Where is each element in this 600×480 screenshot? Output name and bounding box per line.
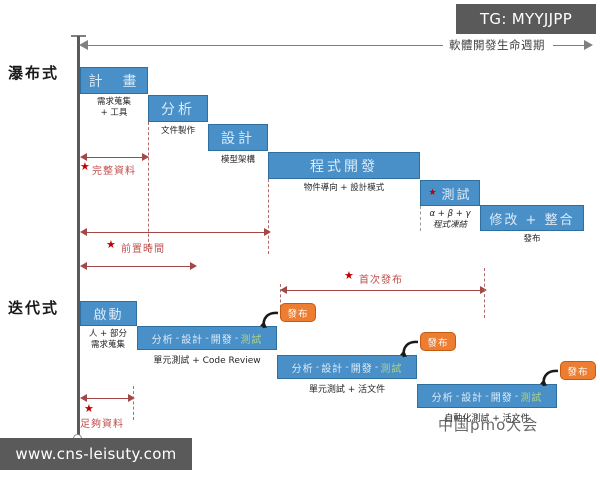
phase-block-plan[interactable]: 計 畫 (80, 67, 148, 94)
curved-arrow-icon-2 (398, 335, 422, 359)
star-icon-testing: ★ (428, 189, 438, 198)
segment-separator-icon: - (456, 391, 460, 402)
side-label-iterative: 迭代式 (8, 297, 59, 318)
phase-sub-analysis: 文件製作 (148, 126, 208, 137)
measure-line-lead-time-lower (86, 266, 191, 267)
diagram-canvas: 軟體開發生命週期 瀑布式 迭代式 計 畫 需求蒐集 + 工具 分析 文件製作 設… (0, 0, 600, 480)
phase-sub-design: 模型架構 (205, 155, 271, 166)
phase-title-analysis: 分析 (161, 99, 195, 119)
iteration-sub-start: 人 + 部分 需求蒐集 (78, 329, 138, 352)
star-icon-first-release: ★ (344, 270, 354, 281)
segment-separator-icon: - (345, 362, 349, 373)
phase-sub-fix-integrate: 發布 (480, 234, 584, 245)
side-label-waterfall: 瀑布式 (8, 62, 59, 83)
timeline-label: 軟體開發生命週期 (449, 37, 545, 53)
segment-separator-icon: - (205, 333, 209, 344)
phase-block-development[interactable]: 程式開發 (268, 152, 420, 179)
measure-label-complete-data: 完整資料 (92, 162, 136, 177)
center-watermark: 中国pmo大会 (438, 414, 538, 435)
segment-separator-icon: - (316, 362, 320, 373)
iteration-row-2[interactable]: 分析 - 設計 - 開發 - 測試 (277, 355, 417, 379)
iteration-segment-design: 設計 (461, 389, 483, 404)
segment-separator-icon: - (176, 333, 180, 344)
segment-separator-icon: - (235, 333, 239, 344)
segment-separator-icon: - (375, 362, 379, 373)
iteration-segment-analysis: 分析 (432, 389, 454, 404)
curved-arrow-icon-1 (258, 306, 282, 330)
guide-dash-testing (420, 206, 421, 231)
segment-separator-icon: - (485, 391, 489, 402)
bottom-badge: www.cns-leisuty.com (0, 438, 192, 470)
measure-arrow-right-lead-time-upper (264, 228, 271, 236)
release-button-3[interactable]: 發布 (560, 361, 596, 380)
phase-title-testing: 測試 (442, 184, 472, 203)
phase-block-fix-integrate[interactable]: 修改 + 整合 (480, 205, 584, 231)
phase-block-testing[interactable]: ★ 測試 (420, 180, 480, 206)
iteration-title-start: 啟動 (93, 304, 123, 323)
phase-block-design[interactable]: 設計 (208, 124, 268, 151)
iteration-row-3[interactable]: 分析 - 設計 - 開發 - 測試 (417, 384, 557, 408)
phase-title-fix-integrate: 修改 + 整合 (489, 209, 574, 228)
iteration-segment-design: 設計 (181, 331, 203, 346)
star-icon-complete-data: ★ (80, 161, 90, 172)
release-button-2[interactable]: 發布 (420, 332, 456, 351)
curved-arrow-icon-3 (538, 364, 562, 388)
iteration-segment-test: 測試 (520, 389, 542, 404)
iteration-sub-2: 單元測試 + 活文件 (277, 384, 417, 396)
guide-dash-first-release-right (484, 268, 485, 318)
iteration-segment-develop: 開發 (211, 331, 233, 346)
phase-title-plan: 計 畫 (89, 71, 140, 91)
iteration-sub-1: 單元測試 + Code Review (137, 355, 277, 367)
iteration-segment-analysis: 分析 (152, 331, 174, 346)
timeline-line-left (88, 45, 443, 46)
iteration-row-1[interactable]: 分析 - 設計 - 開發 - 測試 (137, 326, 277, 350)
guide-dash-enough-data (133, 386, 134, 420)
iteration-segment-test: 測試 (380, 360, 402, 375)
phase-title-design: 設計 (221, 128, 255, 148)
measure-label-lead-time: 前置時間 (121, 240, 165, 255)
iteration-segment-develop: 開發 (351, 360, 373, 375)
measure-arrow-right-lead-time-lower (190, 262, 197, 270)
iteration-segment-develop: 開發 (491, 389, 513, 404)
phase-sub-testing: α + β + γ 程式凍結 (420, 209, 480, 232)
release-button-1[interactable]: 發布 (280, 303, 316, 322)
iteration-segment-analysis: 分析 (292, 360, 314, 375)
top-badge: TG: MYYJJPP (456, 4, 596, 34)
phase-block-analysis[interactable]: 分析 (148, 95, 208, 122)
timeline-line-right (553, 45, 585, 46)
iteration-segment-design: 設計 (321, 360, 343, 375)
measure-label-first-release: 首次發布 (359, 271, 403, 286)
measure-arrow-right-complete-data (142, 153, 149, 161)
iteration-segment-test: 測試 (240, 331, 262, 346)
measure-line-complete-data (86, 157, 143, 158)
timeline-arrow-right-icon (584, 40, 593, 50)
measure-label-enough-data: 足夠資料 (80, 415, 124, 430)
star-icon-enough-data: ★ (84, 403, 94, 414)
segment-separator-icon: - (515, 391, 519, 402)
phase-sub-development: 物件導向 + 設計模式 (268, 183, 420, 194)
star-icon-lead-time: ★ (106, 239, 116, 250)
measure-line-first-release (286, 290, 482, 291)
phase-title-development: 程式開發 (310, 156, 378, 176)
measure-line-enough-data (86, 398, 130, 399)
timeline-arrow-left-icon (79, 40, 88, 50)
phase-sub-plan: 需求蒐集 + 工具 (80, 97, 148, 120)
measure-line-lead-time-upper (86, 232, 266, 233)
iteration-block-start[interactable]: 啟動 (80, 301, 137, 326)
guide-dash-development (268, 179, 269, 254)
